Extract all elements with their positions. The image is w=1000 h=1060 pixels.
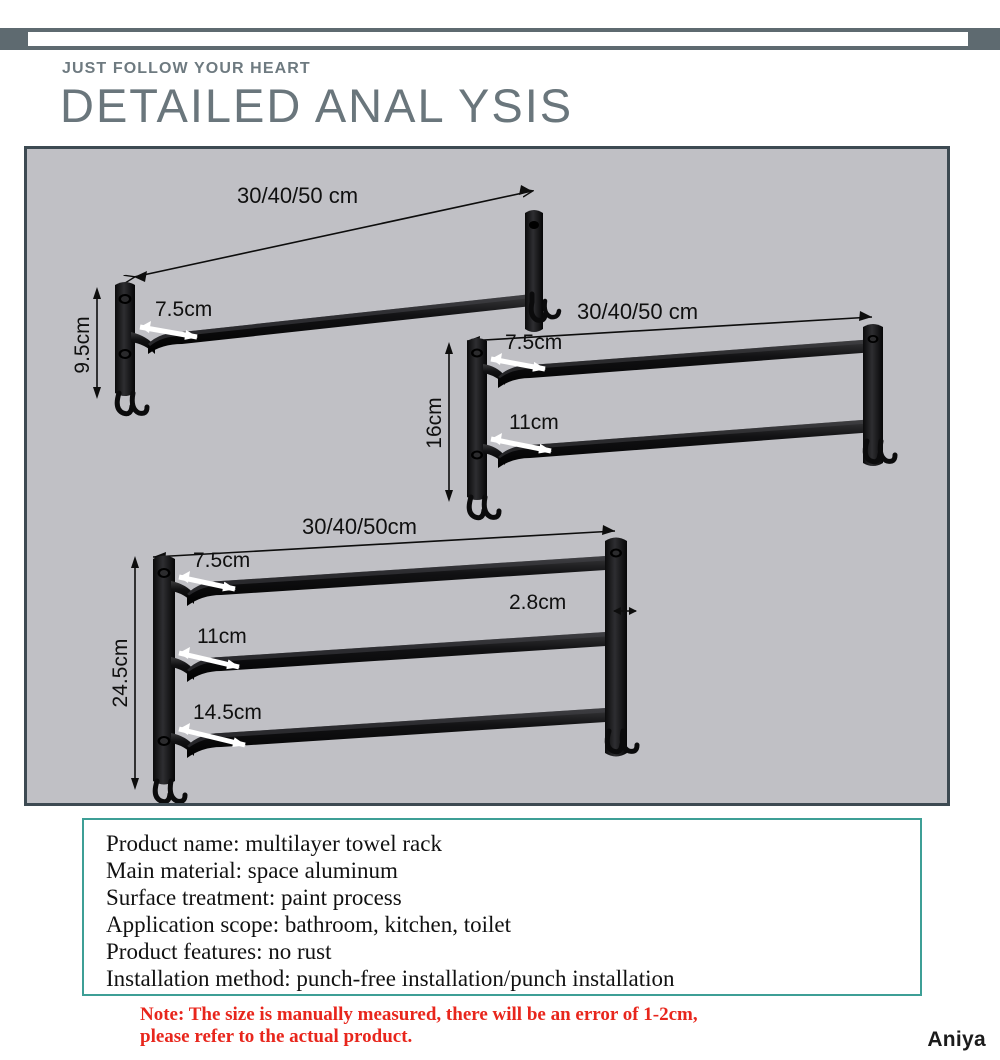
rack3-height-label: 24.5cm [109, 639, 132, 708]
rack2-right-mount-plate [863, 324, 895, 466]
rack3-depth-mid-label: 11cm [197, 625, 247, 648]
top-bar-inner-stripe [28, 32, 968, 46]
page-title: DETAILED ANAL YSIS [60, 78, 573, 133]
rack2-height-label: 16cm [423, 397, 446, 448]
rack2-depth-top-label: 7.5cm [505, 331, 562, 354]
rack2-length-label: 30/40/50 cm [577, 299, 698, 324]
spec-line-application-scope: Application scope: bathroom, kitchen, to… [106, 911, 920, 938]
note-line-2: please refer to the actual product. [140, 1026, 900, 1048]
rack1-right-mount-plate [525, 210, 559, 332]
rack2-depth-bottom-label: 11cm [509, 411, 559, 434]
measurement-note: Note: The size is manually measured, the… [140, 1004, 900, 1048]
spec-line-surface-treatment: Surface treatment: paint process [106, 884, 920, 911]
brand-watermark: Aniya [927, 1028, 986, 1052]
rack-triple-bar: 30/40/50cm 24.5cm [109, 514, 637, 802]
product-spec-box: Product name: multilayer towel rack Main… [82, 818, 922, 996]
rack3-thickness-label: 2.8cm [509, 591, 566, 614]
rack3-depth-top-label: 7.5cm [193, 549, 250, 572]
header-kicker: JUST FOLLOW YOUR HEART [62, 60, 311, 78]
rack3-right-mount-plate [605, 538, 637, 757]
rack3-height-dimension [131, 556, 139, 790]
rack1-height-dimension [93, 287, 101, 399]
rack2-left-hooks [469, 497, 499, 518]
rack1-left-hooks [117, 393, 147, 414]
note-line-1: Note: The size is manually measured, the… [140, 1004, 900, 1026]
rack1-height-label: 9.5cm [71, 316, 94, 373]
rack3-depth-bottom-label: 14.5cm [193, 701, 262, 724]
spec-line-product-features: Product features: no rust [106, 938, 920, 965]
spec-line-main-material: Main material: space aluminum [106, 857, 920, 884]
rack3-left-hooks [155, 781, 185, 802]
rack1-length-label: 30/40/50 cm [237, 183, 358, 208]
rack2-height-dimension [445, 342, 453, 502]
rack1-depth-label: 7.5cm [155, 298, 212, 321]
rack3-length-label: 30/40/50cm [302, 514, 417, 539]
towel-rack-diagrams: 30/40/50 cm 9.5cm [27, 149, 947, 803]
spec-line-installation-method: Installation method: punch-free installa… [106, 965, 920, 992]
diagram-panel: 30/40/50 cm 9.5cm [24, 146, 950, 806]
rack-double-bar: 30/40/50 cm 16cm [423, 299, 895, 518]
spec-line-product-name: Product name: multilayer towel rack [106, 830, 920, 857]
rack1-left-mount-plate [115, 282, 147, 414]
